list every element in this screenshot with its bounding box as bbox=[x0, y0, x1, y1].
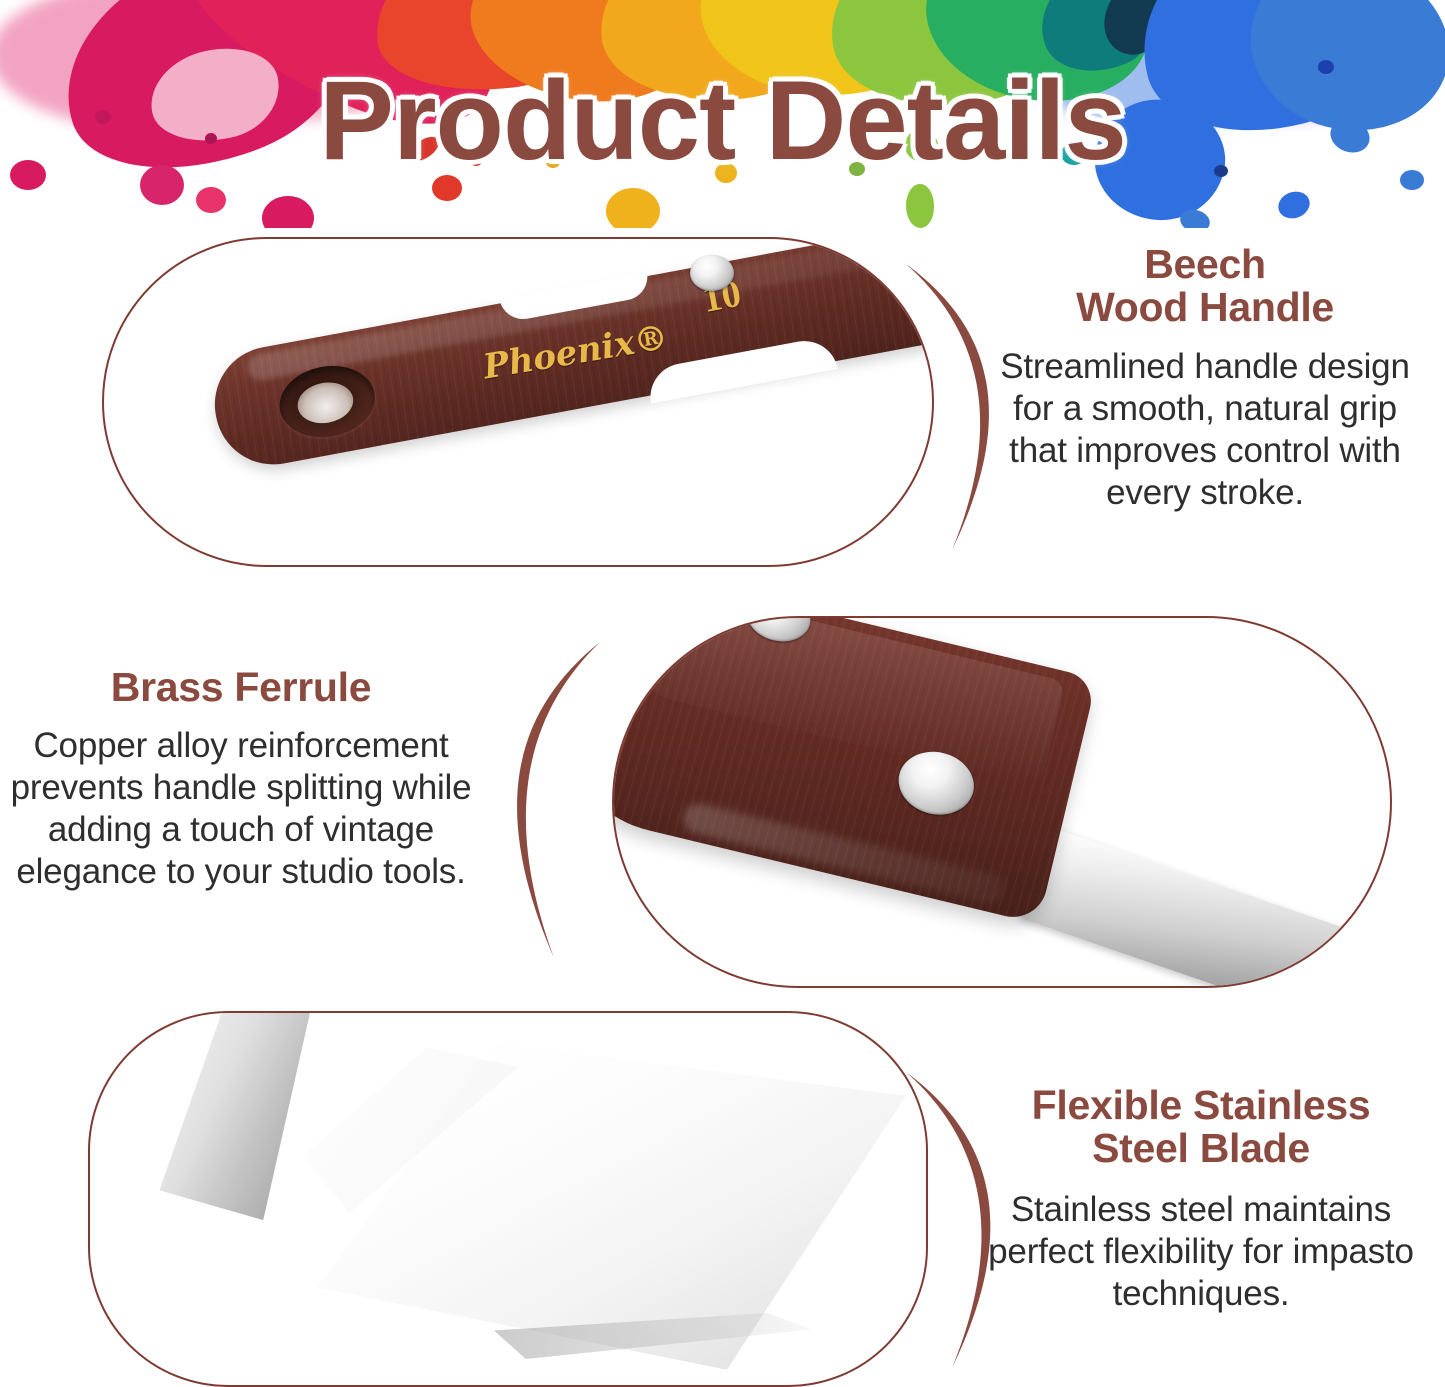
page-title: Product Details bbox=[0, 56, 1445, 185]
steel-blade-photo bbox=[88, 1011, 928, 1387]
feature-heading-3: Flexible Stainless Steel Blade bbox=[965, 1084, 1437, 1171]
feature-text-3: Flexible Stainless Steel Blade Stainless… bbox=[965, 1084, 1437, 1315]
blade-face bbox=[266, 1043, 906, 1373]
blade-tang bbox=[159, 1011, 346, 1220]
feature-section-3: Flexible Stainless Steel Blade Stainless… bbox=[0, 0, 1445, 1387]
feature-heading-3-line1: Flexible Stainless bbox=[1032, 1082, 1371, 1128]
feature-body-3: Stainless steel maintains perfect flexib… bbox=[965, 1189, 1437, 1315]
feature-heading-3-line2: Steel Blade bbox=[1092, 1125, 1310, 1171]
